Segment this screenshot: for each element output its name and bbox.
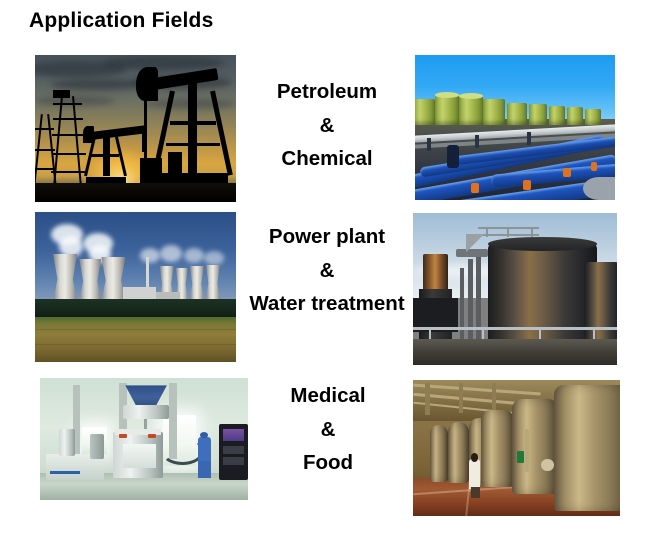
caption-line-1: Petroleum xyxy=(238,82,416,103)
press-window xyxy=(123,444,156,468)
indicator-light xyxy=(119,434,127,438)
photo-oilfield xyxy=(35,55,236,202)
caption-ampersand: & xyxy=(231,261,423,282)
caption-line-1: Medical xyxy=(248,386,408,407)
ceiling-hanger xyxy=(492,383,496,410)
fermentation-tank xyxy=(430,425,449,482)
spiral-stair xyxy=(466,234,486,258)
caption-ampersand: & xyxy=(248,420,408,441)
indicator-light xyxy=(148,434,156,438)
storage-tank xyxy=(529,104,547,124)
arm-fixture xyxy=(59,429,76,456)
page-title: Application Fields xyxy=(29,9,213,33)
valve-marker xyxy=(471,183,479,193)
pipelines-scene xyxy=(415,55,615,200)
slide-canvas: Application Fields xyxy=(0,0,650,536)
field-furrow xyxy=(35,329,236,330)
photo-watertreatment xyxy=(413,213,617,365)
photo-foodtanks xyxy=(413,380,620,516)
steam-plume xyxy=(160,245,182,262)
caption-line-1: Power plant xyxy=(231,227,423,248)
storage-tank xyxy=(507,103,527,125)
pumpjack-large-right xyxy=(136,67,237,190)
gantry-post xyxy=(486,227,488,238)
yard-ground xyxy=(413,339,617,365)
farm-field xyxy=(35,317,236,362)
rack-support xyxy=(475,135,479,148)
tank-downpipe xyxy=(525,429,529,473)
worker-figure xyxy=(469,459,480,489)
oilfield-scene xyxy=(35,55,236,202)
side-unit xyxy=(90,434,105,458)
safety-railing xyxy=(413,327,617,330)
steam-plume xyxy=(140,248,160,263)
ground-silhouette xyxy=(35,183,236,202)
gantry-post xyxy=(531,227,533,238)
hopper-housing xyxy=(123,405,169,420)
fermentation-tank xyxy=(448,422,469,483)
tank-roof xyxy=(488,237,596,251)
rack-panel xyxy=(223,457,244,464)
riser-pipe xyxy=(476,253,481,347)
steam-plume xyxy=(204,251,224,265)
caption-ampersand: & xyxy=(238,116,416,137)
worker-legs xyxy=(198,461,210,478)
caption-line-3: Chemical xyxy=(238,149,416,170)
steam-plume xyxy=(184,248,204,263)
caption-line-3: Food xyxy=(248,453,408,474)
tank-valve xyxy=(517,451,524,463)
tank-roof xyxy=(435,92,459,98)
rack-panel xyxy=(223,446,244,453)
monitor-screen xyxy=(223,429,244,441)
caption-medical-food: Medical & Food xyxy=(248,386,408,474)
rack-support xyxy=(427,138,431,151)
foodtanks-scene xyxy=(413,380,620,516)
storage-tank xyxy=(567,107,583,124)
caption-line-3: Water treatment xyxy=(231,294,423,315)
digester-tank xyxy=(488,243,596,352)
storage-tank xyxy=(549,106,565,125)
photo-powerplant xyxy=(35,212,236,362)
storage-tank xyxy=(415,99,435,125)
worker-legs xyxy=(471,487,480,498)
storage-tank xyxy=(585,109,601,125)
ceiling-hanger xyxy=(425,383,429,416)
riser-pipe xyxy=(460,268,464,347)
caption-power-water: Power plant & Water treatment xyxy=(231,227,423,315)
rusty-stack xyxy=(423,254,447,294)
valve-marker xyxy=(563,168,571,177)
console-label xyxy=(50,471,79,475)
riser-pipe xyxy=(468,259,473,347)
valve-marker xyxy=(523,180,531,190)
tank-gauge xyxy=(541,459,553,471)
storage-tank xyxy=(435,94,459,124)
gantry-post xyxy=(507,227,509,238)
valve-marker xyxy=(591,162,597,171)
pipe-fitting xyxy=(447,145,459,168)
field-furrow xyxy=(35,344,236,345)
powerplant-scene xyxy=(35,212,236,362)
fermentation-tank xyxy=(512,399,558,494)
secondary-tank xyxy=(584,262,617,347)
ceiling-hanger xyxy=(459,383,463,413)
worker-head xyxy=(471,453,478,461)
photo-pipelines xyxy=(415,55,615,200)
storage-tank xyxy=(483,99,505,125)
derrick-tower-far-left xyxy=(35,114,59,188)
cleanroom-scene xyxy=(40,378,248,500)
photo-cleanroom xyxy=(40,378,248,500)
worker-figure xyxy=(198,437,210,464)
caption-petroleum-chemical: Petroleum & Chemical xyxy=(238,82,416,170)
fermentation-tank xyxy=(481,410,514,488)
pipe-flange xyxy=(583,177,615,200)
watertreatment-scene xyxy=(413,213,617,365)
fermentation-tank-foreground xyxy=(554,385,620,510)
rack-support xyxy=(527,132,531,145)
treeline xyxy=(35,299,236,319)
cloud-band xyxy=(51,79,143,91)
storage-tank xyxy=(459,96,483,125)
